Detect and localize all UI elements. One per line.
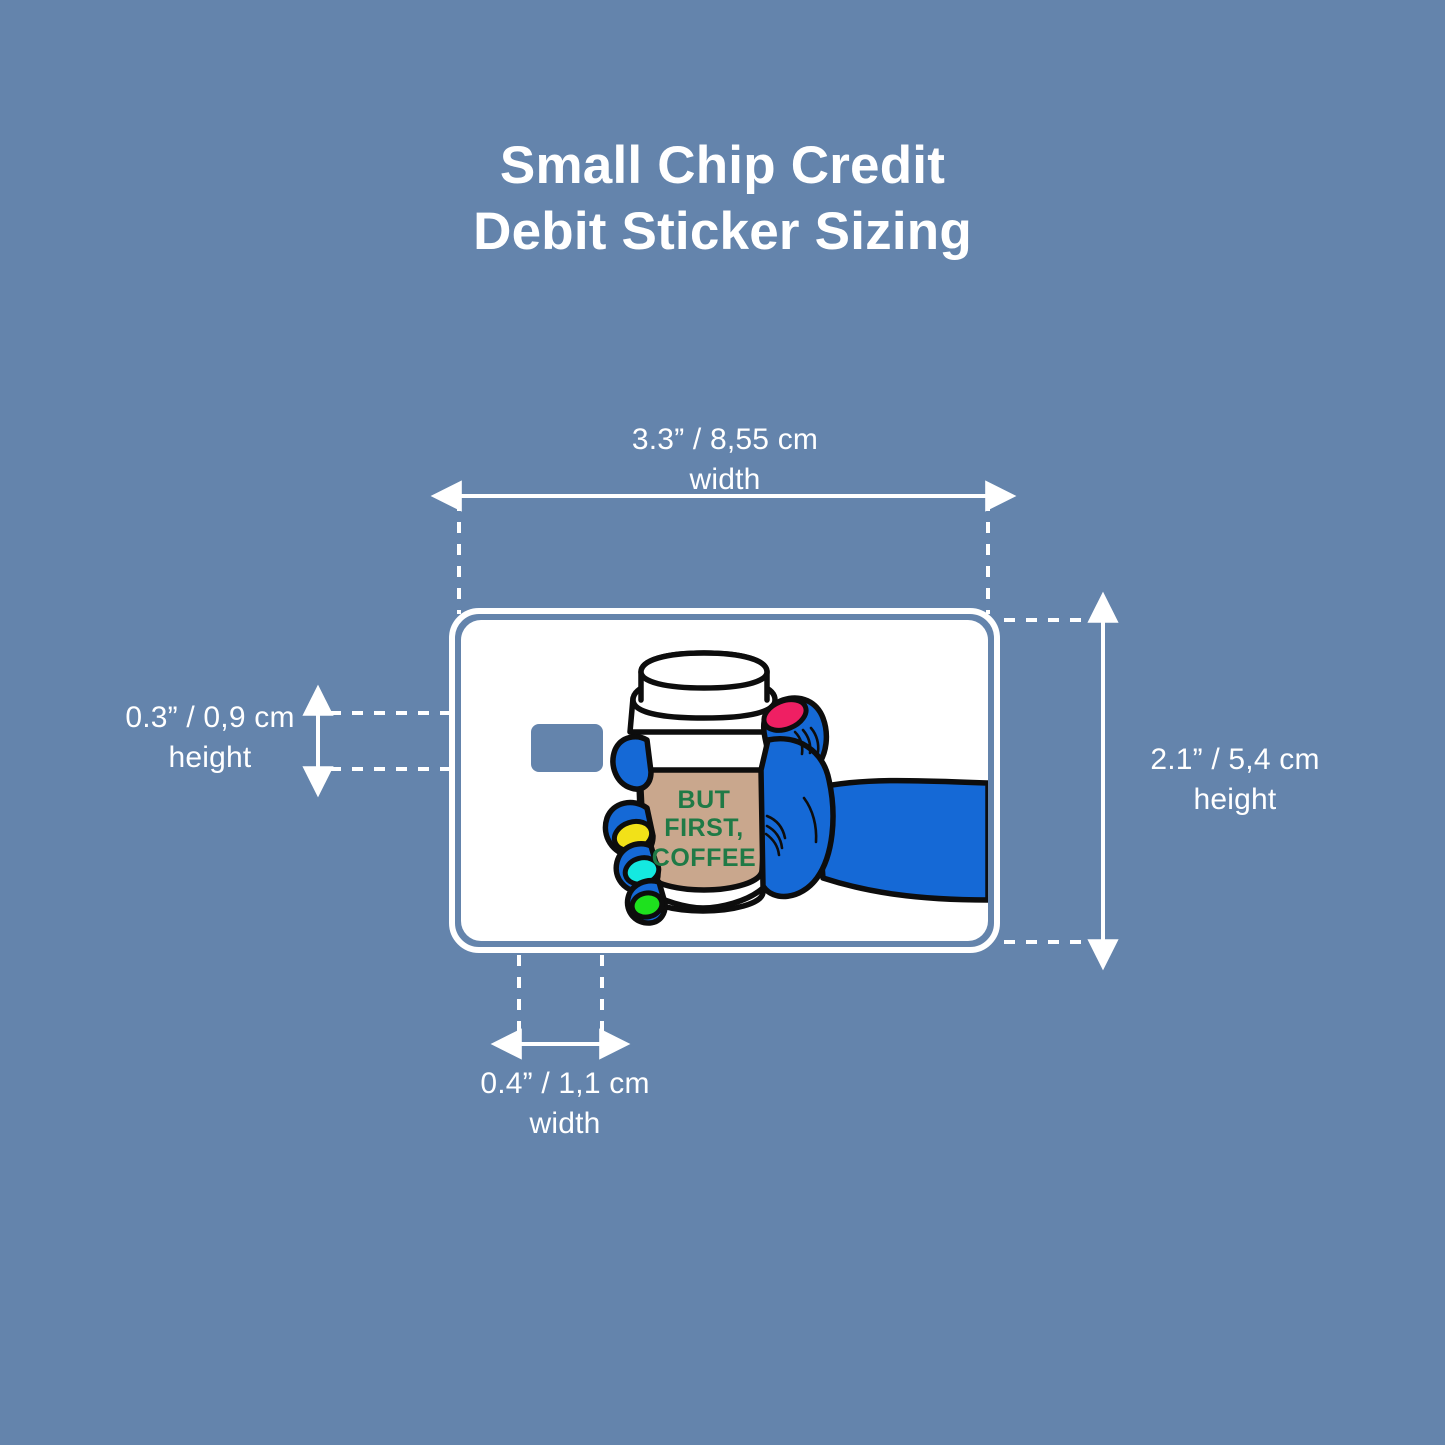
- dimension-label-chip-height: 0.3” / 0,9 cm height: [60, 698, 360, 778]
- cup-text-line-1: BUT: [678, 786, 731, 814]
- sizing-diagram: Small Chip Credit Debit Sticker Sizing: [0, 0, 1445, 1445]
- lid-top-cap: [641, 653, 767, 688]
- dimension-label-chip-width: 0.4” / 1,1 cm width: [405, 1064, 725, 1144]
- cup-text-line-2: FIRST,: [664, 814, 743, 842]
- finger-index: [613, 737, 651, 789]
- but-first-coffee-illustration: BUT FIRST, COFFEE: [461, 620, 988, 941]
- card-preview: BUT FIRST, COFFEE: [449, 608, 1000, 953]
- cup-text-line-3: COFFEE: [652, 844, 756, 872]
- page-title: Small Chip Credit Debit Sticker Sizing: [0, 133, 1445, 265]
- dimension-label-card-height: 2.1” / 5,4 cm height: [1085, 740, 1385, 820]
- arm-shape: [816, 781, 988, 900]
- dimension-label-top-width: 3.3” / 8,55 cm width: [525, 420, 925, 500]
- card-face: BUT FIRST, COFFEE: [461, 620, 988, 941]
